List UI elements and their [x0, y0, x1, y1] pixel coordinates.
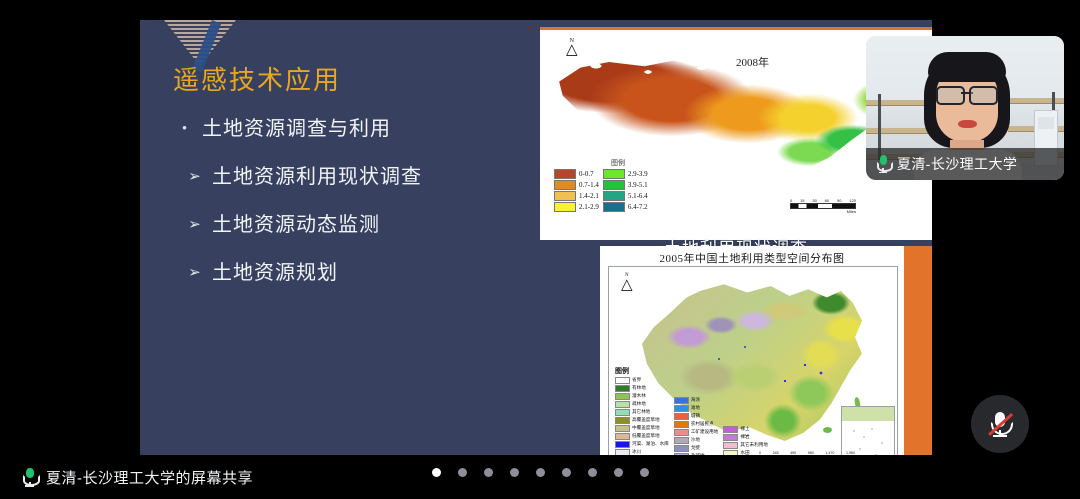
- glasses-lens-right: [969, 86, 998, 105]
- legend-label: 城镇: [691, 413, 700, 419]
- legend-title: 图例: [554, 158, 682, 168]
- inset-land: [842, 407, 894, 421]
- legend-swatch: [723, 442, 738, 450]
- bullet-marker-icon: •: [168, 116, 202, 142]
- list-item: • 土地资源调查与利用: [168, 116, 548, 142]
- map-scale-bar: 0 15 30 60 90 120 Miles: [790, 198, 856, 214]
- legend-swatch: [674, 437, 689, 445]
- arrow-bullet-icon: ➢: [178, 260, 212, 286]
- north-arrow-glyph: △: [566, 44, 578, 57]
- legend-label: 0-0.7: [579, 170, 594, 178]
- legend-label: 2.1-2.9: [579, 203, 599, 211]
- shelf: [866, 100, 928, 105]
- north-arrow-icon: N △: [621, 273, 633, 292]
- slide-title: 遥感技术应用: [173, 60, 341, 97]
- participant-name-bar: 夏清-长沙理工大学: [866, 148, 1064, 180]
- pagination-dot[interactable]: [484, 468, 493, 477]
- legend-swatch: [674, 413, 689, 421]
- legend-item: 工矿建设用地: [674, 429, 719, 437]
- legend-swatch: [615, 409, 630, 417]
- legend-label: 低覆盖度草地: [632, 433, 660, 439]
- scale-tick: 0: [790, 198, 792, 203]
- legend-swatch: [615, 377, 630, 385]
- legend-item: 高覆盖度草地: [615, 417, 669, 425]
- legend-swatch: [603, 191, 625, 201]
- list-item: ➢ 土地资源利用现状调查: [178, 164, 548, 190]
- legend-swatch: [723, 426, 738, 434]
- pagination-dots[interactable]: [0, 468, 1080, 477]
- legend-label: 0.7-1.4: [579, 181, 599, 189]
- legend-label: 灌木林: [632, 393, 646, 399]
- glasses-lens-left: [936, 86, 965, 105]
- legend-label: 河渠、湖泊、水库: [632, 441, 669, 447]
- legend-item: 海涂: [674, 397, 719, 405]
- legend-swatch: [554, 180, 576, 190]
- legend-swatch: [615, 401, 630, 409]
- legend-swatch: [615, 433, 630, 441]
- pagination-dot[interactable]: [458, 468, 467, 477]
- legend-label: 工矿建设用地: [691, 429, 719, 435]
- pagination-dot[interactable]: [614, 468, 623, 477]
- legend-swatch: [603, 180, 625, 190]
- legend-swatch: [723, 434, 738, 442]
- scale-tick: 120: [849, 198, 856, 203]
- legend-item: 0.7-1.4: [554, 180, 599, 190]
- legend-swatch: [615, 385, 630, 393]
- list-item-label: 土地资源调查与利用: [202, 116, 391, 142]
- north-arrow-glyph: △: [621, 279, 633, 292]
- scale-tick: 15: [800, 198, 804, 203]
- slide-bullet-list: • 土地资源调查与利用 ➢ 土地资源利用现状调查 ➢ 土地资源动态监测 ➢ 土地…: [168, 116, 548, 308]
- map-title: 2005年中国土地利用类型空间分布图: [600, 250, 904, 266]
- microphone-muted-icon: [987, 410, 1013, 438]
- legend-swatch: [674, 429, 689, 437]
- legend-swatch: [554, 169, 576, 179]
- legend-item: 1.4-2.1: [554, 191, 599, 201]
- pagination-dot[interactable]: [640, 468, 649, 477]
- pagination-dot[interactable]: [588, 468, 597, 477]
- legend-label: 农村居民点: [691, 421, 714, 427]
- legend-item: 中覆盖度草地: [615, 425, 669, 433]
- legend-swatch: [674, 405, 689, 413]
- legend-column-1: 省界 有林地 灌木林 疏林地 其它林地 高覆盖度草地 中覆盖度草地 低覆盖度草地…: [615, 377, 669, 457]
- list-item-label: 土地资源规划: [212, 260, 338, 286]
- arrow-bullet-icon: ➢: [178, 164, 212, 190]
- pagination-dot[interactable]: [510, 468, 519, 477]
- list-item: ➢ 土地资源动态监测: [178, 212, 548, 238]
- screen-share-status-bar: 夏清-长沙理工大学的屏幕共享: [0, 455, 1080, 499]
- mouth: [958, 120, 977, 128]
- legend-item: 疏林地: [615, 401, 669, 409]
- legend-item: 沙地: [674, 437, 719, 445]
- legend-label: 戈壁: [691, 445, 700, 451]
- legend-column-right: 2.9-3.9 3.9-5.1 5.1-6.4 6.4-7.2: [603, 169, 648, 212]
- legend-item: 城镇: [674, 413, 719, 421]
- legend-item: 农村居民点: [674, 421, 719, 429]
- legend-label: 中覆盖度草地: [632, 425, 660, 431]
- map-image-2005-container: 2005年中国土地利用类型空间分布图 N △ 图例: [600, 246, 932, 477]
- legend-swatch: [603, 202, 625, 212]
- legend-label: 沙地: [691, 437, 700, 443]
- pagination-dot[interactable]: [432, 468, 441, 477]
- legend-label: 2.9-3.9: [628, 170, 648, 178]
- shelf: [1008, 98, 1064, 103]
- map-legend: 图例 0-0.7 0.7-1.4 1.4-2.1: [554, 158, 682, 212]
- hair-fringe: [928, 52, 1006, 82]
- legend-label: 有林地: [632, 385, 646, 391]
- legend-swatch: [615, 417, 630, 425]
- legend-swatch: [615, 425, 630, 433]
- legend-label: 裸土: [740, 426, 749, 432]
- shelf: [866, 128, 928, 133]
- glasses-icon: [936, 86, 998, 101]
- scale-tick: 30: [812, 198, 816, 203]
- legend-label: 5.1-6.4: [628, 192, 648, 200]
- legend-label: 海涂: [691, 397, 700, 403]
- legend-swatch: [554, 202, 576, 212]
- orange-accent-bar: [902, 246, 932, 477]
- legend-label: 其它未利用地: [740, 442, 768, 448]
- legend-swatch: [674, 421, 689, 429]
- participant-video-tile[interactable]: 夏清-长沙理工大学: [866, 36, 1064, 180]
- legend-item: 有林地: [615, 385, 669, 393]
- legend-title: 图例: [615, 366, 825, 376]
- legend-item: 滩地: [674, 405, 719, 413]
- meeting-screen: 遥感技术应用 • 土地资源调查与利用 ➢ 土地资源利用现状调查 ➢ 土地资源动态…: [0, 0, 1080, 499]
- legend-swatch: [615, 393, 630, 401]
- legend-item: 裸岩: [723, 434, 768, 442]
- legend-item: 其它未利用地: [723, 442, 768, 450]
- north-arrow-icon: N △: [566, 38, 578, 57]
- legend-label: 高覆盖度草地: [632, 417, 660, 423]
- list-item-label: 土地资源动态监测: [212, 212, 380, 238]
- legend-label: 其它林地: [632, 409, 650, 415]
- arrow-bullet-icon: ➢: [178, 212, 212, 238]
- scale-unit-label: Miles: [847, 209, 856, 214]
- legend-item: 2.9-3.9: [603, 169, 648, 179]
- mute-toggle-button[interactable]: [971, 395, 1029, 453]
- legend-item: 裸土: [723, 426, 768, 434]
- map-image-2005: 2005年中国土地利用类型空间分布图 N △ 图例: [600, 246, 904, 477]
- scale-tick: 90: [837, 198, 841, 203]
- legend-item: 灌木林: [615, 393, 669, 401]
- legend-item: 其它林地: [615, 409, 669, 417]
- legend-item: 5.1-6.4: [603, 191, 648, 201]
- microphone-icon: [876, 154, 890, 174]
- legend-item: 省界: [615, 377, 669, 385]
- legend-swatch: [674, 445, 689, 453]
- legend-swatch: [615, 441, 630, 449]
- legend-item: 低覆盖度草地: [615, 433, 669, 441]
- legend-label: 6.4-7.2: [628, 203, 648, 211]
- pagination-dot[interactable]: [536, 468, 545, 477]
- participant-name-label: 夏清-长沙理工大学: [897, 154, 1017, 174]
- legend-column-left: 0-0.7 0.7-1.4 1.4-2.1 2.1-2.9: [554, 169, 599, 212]
- list-item: ➢ 土地资源规划: [178, 260, 548, 286]
- shared-slide: 遥感技术应用 • 土地资源调查与利用 ➢ 土地资源利用现状调查 ➢ 土地资源动态…: [140, 20, 932, 477]
- legend-label: 省界: [632, 377, 641, 383]
- legend-label: 滩地: [691, 405, 700, 411]
- legend-swatch: [603, 169, 625, 179]
- legend-swatch: [674, 397, 689, 405]
- legend-swatch: [554, 191, 576, 201]
- legend-item: 2.1-2.9: [554, 202, 599, 212]
- legend-label: 3.9-5.1: [628, 181, 648, 189]
- list-item-label: 土地资源利用现状调查: [212, 164, 422, 190]
- legend-item: 6.4-7.2: [603, 202, 648, 212]
- legend-label: 裸岩: [740, 434, 749, 440]
- pagination-dot[interactable]: [562, 468, 571, 477]
- legend-label: 1.4-2.1: [579, 192, 599, 200]
- legend-label: 疏林地: [632, 401, 646, 407]
- legend-item: 0-0.7: [554, 169, 599, 179]
- scale-tick: 60: [825, 198, 829, 203]
- map-frame: N △ 图例 省界: [608, 266, 898, 473]
- legend-item: 河渠、湖泊、水库: [615, 441, 669, 449]
- legend-item: 戈壁: [674, 445, 719, 453]
- legend-item: 3.9-5.1: [603, 180, 648, 190]
